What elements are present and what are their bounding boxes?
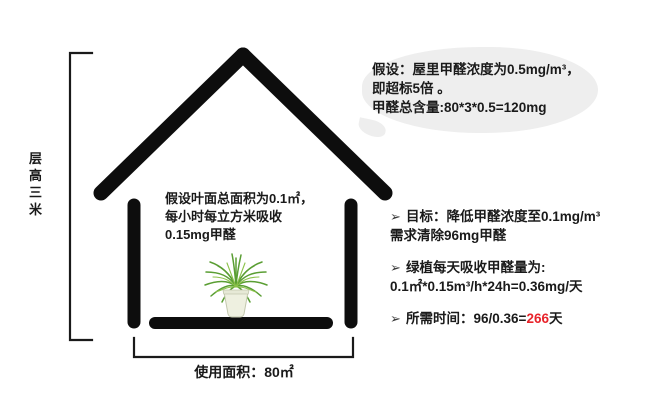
- bullet-absorption-line-1: 绿植每天吸收甲醛量为:: [406, 259, 546, 277]
- bullet-item-time: ➢ 所需时间：96/0.36=266天: [390, 310, 658, 328]
- height-label-char-3: 三: [22, 184, 50, 201]
- height-label: 层 高 三 米: [22, 150, 50, 218]
- diagram-canvas: 层 高 三 米 使用面积：80㎡ 假设叶面总面积为0.1㎡， 每小时每立方米吸收…: [0, 0, 663, 417]
- house-note-line-3: 0.15mg甲醛: [165, 226, 380, 244]
- bullet-absorption-line-2: 0.1㎡*0.15m³/h*24h=0.36mg/天: [390, 278, 658, 296]
- height-label-char-1: 层: [22, 150, 50, 167]
- house-note: 假设叶面总面积为0.1㎡， 每小时每立方米吸收 0.15mg甲醛: [165, 190, 380, 244]
- height-label-char-2: 高: [22, 167, 50, 184]
- bullet-item-goal: ➢ 目标：降低甲醛浓度至0.1mg/m³ 需求清除96mg甲醛: [390, 208, 658, 245]
- bullet-goal-line-1: 目标：降低甲醛浓度至0.1mg/m³: [406, 208, 600, 226]
- bullet-time-prefix: 所需时间：96/0.36=: [406, 311, 526, 326]
- house-note-line-1: 假设叶面总面积为0.1㎡，: [165, 190, 380, 208]
- bullet-item-absorption: ➢ 绿植每天吸收甲醛量为: 0.1㎡*0.15m³/h*24h=0.36mg/天: [390, 259, 658, 296]
- speech-bubble-text: 假设：屋里甲醛浓度为0.5mg/m³， 即超标5倍 。 甲醛总含量:80*3*0…: [372, 60, 632, 117]
- bullet-goal-line-2: 需求清除96mg甲醛: [390, 227, 658, 245]
- bubble-line-2: 即超标5倍 。: [372, 79, 632, 98]
- bullet-time-suffix: 天: [549, 311, 563, 326]
- bubble-line-3: 甲醛总含量:80*3*0.5=120mg: [372, 98, 632, 117]
- speech-bubble-tail: [357, 117, 388, 138]
- height-label-char-4: 米: [22, 201, 50, 218]
- bubble-line-1: 假设：屋里甲醛浓度为0.5mg/m³，: [372, 60, 632, 79]
- arrow-bullet-icon: ➢: [390, 310, 406, 328]
- width-bracket: [134, 338, 353, 357]
- bullet-time-highlight: 266: [526, 311, 549, 326]
- house-note-line-2: 每小时每立方米吸收: [165, 208, 380, 226]
- bullet-list: ➢ 目标：降低甲醛浓度至0.1mg/m³ 需求清除96mg甲醛 ➢ 绿植每天吸收…: [390, 208, 658, 342]
- arrow-bullet-icon: ➢: [390, 259, 406, 277]
- roof-left-slope: [101, 55, 243, 193]
- height-bracket: [70, 53, 92, 340]
- area-label: 使用面积：80㎡: [133, 362, 355, 382]
- spider-plant-icon: [196, 244, 276, 322]
- arrow-bullet-icon: ➢: [390, 208, 406, 226]
